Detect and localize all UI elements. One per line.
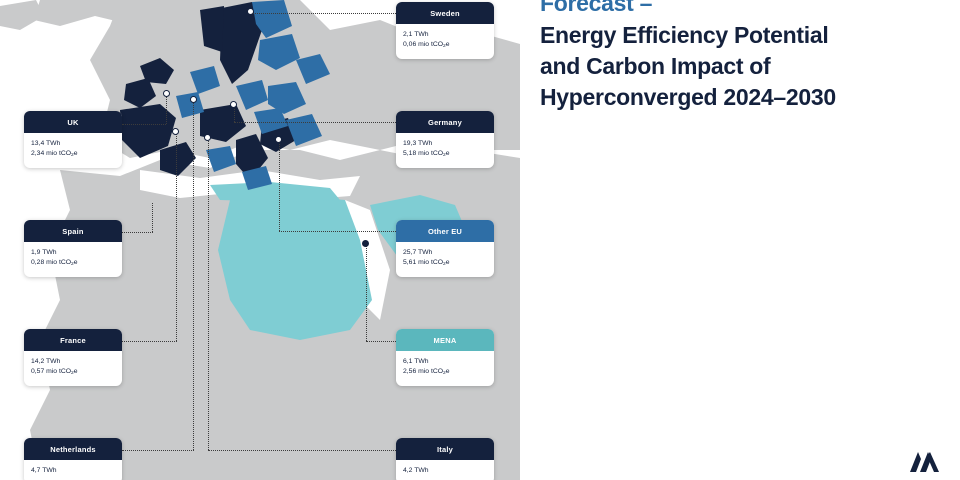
- callout-spain-body: 1,9 TWh 0,28 mio tCO2e: [24, 242, 122, 277]
- callout-germany-energy: 19,3 TWh: [403, 139, 487, 149]
- callout-germany-title: Germany: [396, 111, 494, 133]
- headline-block: Forecast – Energy Efficiency Potential a…: [540, 0, 940, 113]
- callout-sweden-title: Sweden: [396, 2, 494, 24]
- callout-other-eu-title: Other EU: [396, 220, 494, 242]
- callout-mena-title: MENA: [396, 329, 494, 351]
- callout-uk-carbon: 2,34 mio tCO2e: [31, 149, 115, 160]
- connector-othereu-vert: [279, 139, 280, 231]
- map-dot-france: [172, 128, 179, 135]
- connector-spain: [122, 232, 153, 233]
- callout-other-eu-energy: 25,7 TWh: [403, 248, 487, 258]
- infographic-root: Sweden 2,1 TWh 0,06 mio tCO2e UK 13,4 TW…: [0, 0, 960, 480]
- callout-uk-energy: 13,4 TWh: [31, 139, 115, 149]
- map-dot-italy: [204, 134, 211, 141]
- callout-germany[interactable]: Germany 19,3 TWh 5,18 mio tCO2e: [396, 111, 494, 168]
- headline-line-2: and Carbon Impact of: [540, 51, 940, 82]
- callout-france-carbon: 0,57 mio tCO2e: [31, 367, 115, 378]
- callout-netherlands-title: Netherlands: [24, 438, 122, 460]
- connector-germany: [234, 122, 396, 123]
- connector-uk: [122, 124, 166, 125]
- callout-italy-energy: 4,2 TWh: [403, 466, 487, 476]
- callout-uk-body: 13,4 TWh 2,34 mio tCO2e: [24, 133, 122, 168]
- map-dot-other-eu: [275, 136, 282, 143]
- callout-other-eu-carbon: 5,61 mio tCO2e: [403, 258, 487, 269]
- callout-france-title: France: [24, 329, 122, 351]
- connector-mena: [366, 341, 396, 342]
- connector-sweden: [251, 13, 396, 14]
- callout-mena-energy: 6,1 TWh: [403, 357, 487, 367]
- callout-france[interactable]: France 14,2 TWh 0,57 mio tCO2e: [24, 329, 122, 386]
- callout-spain[interactable]: Spain 1,9 TWh 0,28 mio tCO2e: [24, 220, 122, 277]
- callout-spain-energy: 1,9 TWh: [31, 248, 115, 258]
- connector-netherlands-vert: [193, 100, 194, 450]
- brand-logo: [908, 450, 942, 474]
- callout-spain-carbon: 0,28 mio tCO2e: [31, 258, 115, 269]
- connector-mena-vert: [366, 244, 367, 341]
- callout-sweden-body: 2,1 TWh 0,06 mio tCO2e: [396, 24, 494, 59]
- connector-netherlands: [122, 450, 194, 451]
- callout-france-energy: 14,2 TWh: [31, 357, 115, 367]
- connector-italy: [208, 450, 396, 451]
- callout-france-body: 14,2 TWh 0,57 mio tCO2e: [24, 351, 122, 386]
- map-dot-sweden: [247, 8, 254, 15]
- callout-germany-carbon: 5,18 mio tCO2e: [403, 149, 487, 160]
- callout-other-eu-body: 25,7 TWh 5,61 mio tCO2e: [396, 242, 494, 277]
- callout-mena-body: 6,1 TWh 2,56 mio tCO2e: [396, 351, 494, 386]
- connector-spain-vert: [152, 203, 153, 232]
- callout-sweden-energy: 2,1 TWh: [403, 30, 487, 40]
- callout-mena[interactable]: MENA 6,1 TWh 2,56 mio tCO2e: [396, 329, 494, 386]
- headline-line-1: Energy Efficiency Potential: [540, 20, 940, 51]
- connector-france-vert: [176, 131, 177, 341]
- callout-uk-title: UK: [24, 111, 122, 133]
- callout-italy[interactable]: Italy 4,2 TWh: [396, 438, 494, 480]
- headline-line-3: Hyperconverged 2024–2030: [540, 82, 940, 113]
- callout-netherlands-energy: 4,7 TWh: [31, 466, 115, 476]
- callout-other-eu[interactable]: Other EU 25,7 TWh 5,61 mio tCO2e: [396, 220, 494, 277]
- callout-sweden-carbon: 0,06 mio tCO2e: [403, 40, 487, 51]
- callout-italy-title: Italy: [396, 438, 494, 460]
- map-dot-mena: [362, 240, 369, 247]
- callout-sweden[interactable]: Sweden 2,1 TWh 0,06 mio tCO2e: [396, 2, 494, 59]
- callout-mena-carbon: 2,56 mio tCO2e: [403, 367, 487, 378]
- callout-netherlands-body: 4,7 TWh: [24, 460, 122, 480]
- connector-france: [122, 341, 177, 342]
- callout-germany-body: 19,3 TWh 5,18 mio tCO2e: [396, 133, 494, 168]
- callout-spain-title: Spain: [24, 220, 122, 242]
- map-dot-uk: [163, 90, 170, 97]
- headline-text: Energy Efficiency Potential and Carbon I…: [540, 20, 940, 113]
- connector-othereu: [279, 231, 396, 232]
- callout-italy-body: 4,2 TWh: [396, 460, 494, 480]
- connector-italy-vert: [208, 137, 209, 450]
- map-dot-germany: [230, 101, 237, 108]
- callout-uk[interactable]: UK 13,4 TWh 2,34 mio tCO2e: [24, 111, 122, 168]
- headline-kicker: Forecast –: [540, 0, 940, 18]
- callout-netherlands[interactable]: Netherlands 4,7 TWh: [24, 438, 122, 480]
- map-dot-netherlands: [190, 96, 197, 103]
- connector-uk-vert: [166, 93, 167, 124]
